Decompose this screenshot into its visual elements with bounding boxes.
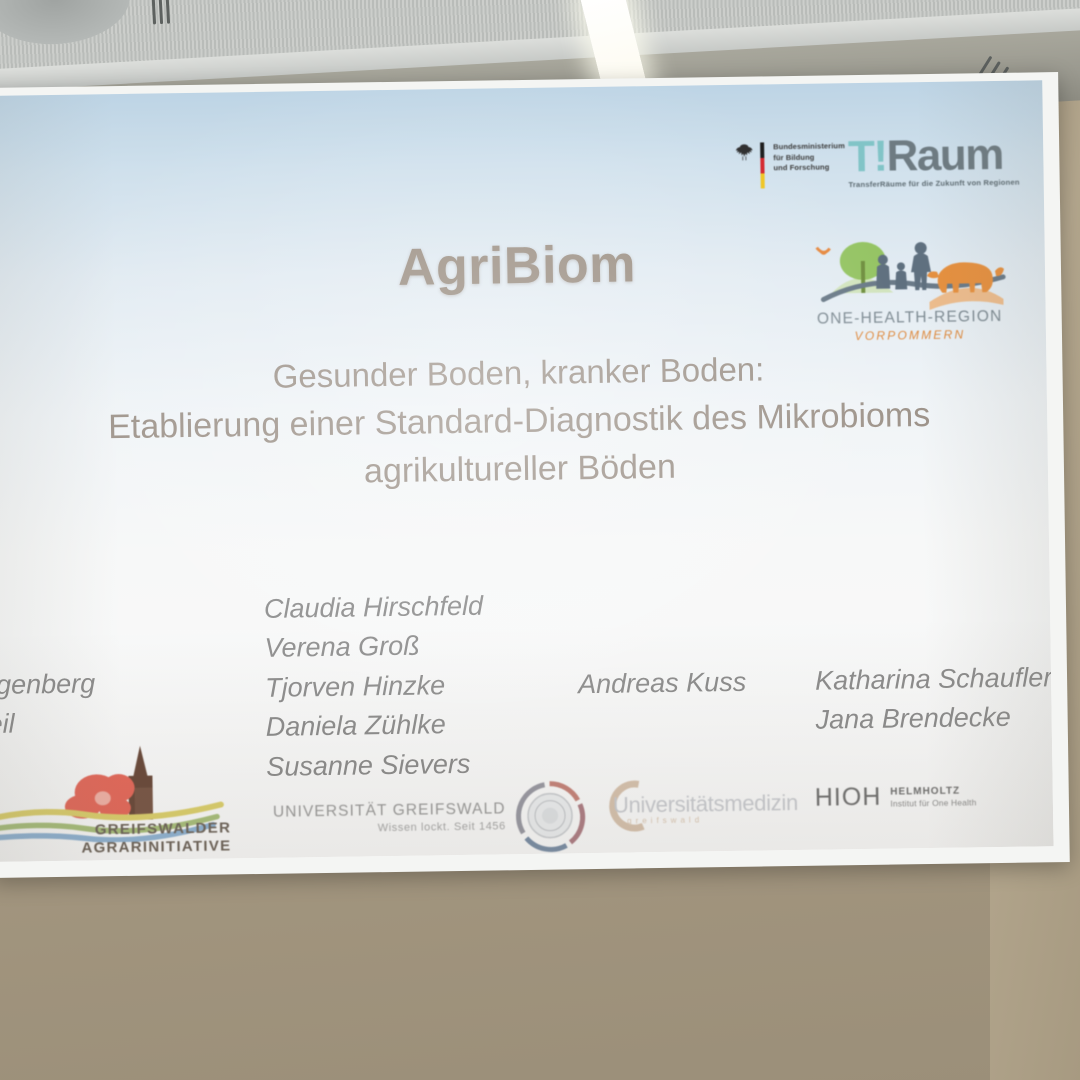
agrar-line-1: GREIFSWALDER [81, 819, 231, 840]
author-list-center: Claudia Hirschfeld Verena Groß Tjorven H… [264, 587, 486, 787]
hioh-line-1: HELMHOLTZ [890, 785, 976, 797]
bmbf-logo: Bundesministerium für Bildung und Forsch… [735, 141, 845, 189]
university-seal-icon [511, 777, 588, 854]
traum-exclamation: ! [873, 132, 887, 181]
traum-wordmark: T!Raum [848, 133, 1020, 180]
traum-logo: T!Raum TransferRäume für die Zukunft von… [848, 133, 1020, 190]
author-list-right: Katharina Schaufler Jana Brendecke [815, 658, 1053, 740]
unigw-line-2: Wissen lockt. Seit 1456 [273, 820, 506, 835]
top-logo-cluster: Bundesministerium für Bildung und Forsch… [729, 131, 1019, 135]
author-name: Tjorven Hinzke [265, 665, 485, 708]
german-flag-bar-icon [760, 142, 765, 188]
hioh-logo: HIOH HELMHOLTZ Institut für One Health [815, 781, 977, 812]
one-health-region-logo: ONE-HEALTH-REGION VORPOMMERN [808, 227, 1010, 350]
one-health-region-label: ONE-HEALTH-REGION VORPOMMERN [810, 308, 1010, 344]
traum-word-raum: Raum [886, 130, 1003, 181]
projection-screen: AgriBiom Gesunder Boden, kranker Boden: … [0, 72, 1070, 878]
ohr-line-1: ONE-HEALTH-REGION [810, 308, 1010, 329]
author-name: Daniela Zühlke [265, 705, 485, 748]
presentation-slide: AgriBiom Gesunder Boden, kranker Boden: … [0, 80, 1054, 862]
unimed-line-2: greifswald [627, 815, 703, 825]
ceiling-vent-left [149, 0, 173, 25]
hioh-line-2: Institut für One Health [890, 797, 976, 808]
greifswalder-agrarinitiative-logo: GREIFSWALDER AGRARINITIATIVE [0, 728, 236, 862]
universitaetsmedizin-greifswald-logo: Universitätsmedizin greifswald [586, 774, 767, 835]
agrarinitiative-label: GREIFSWALDER AGRARINITIATIVE [81, 819, 232, 859]
unimed-line-1: Universitätsmedizin [613, 790, 798, 819]
bmbf-line-1: Bundesministerium [773, 141, 845, 153]
agrar-line-2: AGRARINITIATIVE [81, 838, 231, 859]
author-name: Jana Brendecke [815, 698, 1053, 741]
author-list-mid: Andreas Kuss [578, 663, 747, 705]
universitaet-greifswald-label: UNIVERSITÄT GREIFSWALD Wissen lockt. Sei… [273, 800, 506, 835]
universitaet-greifswald-logo: UNIVERSITÄT GREIFSWALD Wissen lockt. Sei… [273, 777, 589, 858]
traum-letter-t: T [848, 132, 874, 181]
traum-tagline: TransferRäume für die Zukunft von Region… [848, 178, 1019, 190]
federal-eagle-icon [735, 143, 753, 163]
hioh-label: HELMHOLTZ Institut für One Health [890, 785, 976, 808]
projection-screen-surface: AgriBiom Gesunder Boden, kranker Boden: … [0, 80, 1054, 862]
author-name: Katharina Schaufler [815, 658, 1053, 701]
hioh-wordmark: HIOH [815, 783, 882, 813]
author-name: Claudia Hirschfeld [264, 587, 484, 630]
unigw-line-1: UNIVERSITÄT GREIFSWALD [273, 800, 506, 821]
author-name: Andreas Kuss [578, 663, 747, 705]
conference-room-photo: AgriBiom Gesunder Boden, kranker Boden: … [0, 0, 1080, 1080]
slide-subtitle: Gesunder Boden, kranker Boden: Etablieru… [0, 342, 1048, 501]
author-name: a Ringenberg [0, 664, 95, 706]
author-name: Verena Groß [264, 626, 484, 669]
ohr-line-2: VORPOMMERN [810, 327, 1010, 344]
bmbf-label: Bundesministerium für Bildung und Forsch… [773, 141, 845, 174]
bmbf-line-3: und Forschung [773, 162, 845, 174]
